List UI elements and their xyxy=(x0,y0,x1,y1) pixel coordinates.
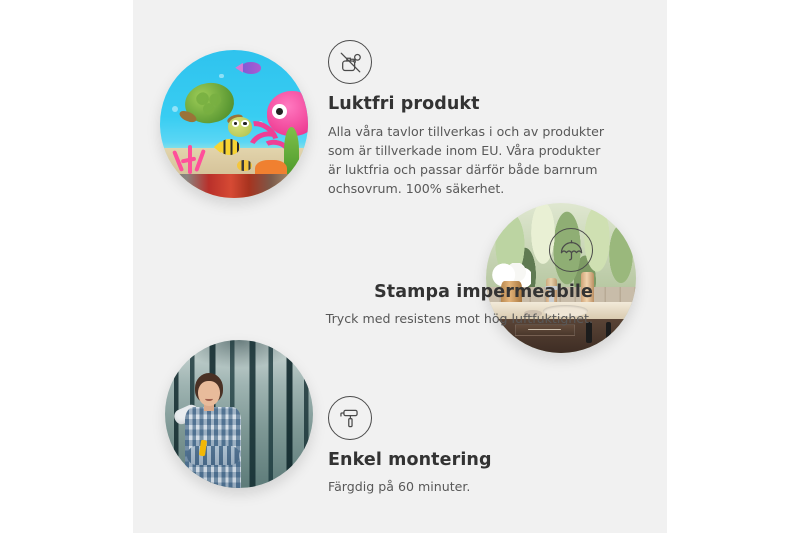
right-white-margin xyxy=(667,0,800,533)
cabinet-handle xyxy=(606,322,612,343)
promo-banner: Luktfri produkt Alla våra tavlor tillver… xyxy=(0,0,800,533)
face xyxy=(198,381,220,406)
purple-fish-icon xyxy=(241,62,260,74)
feature-description: Alla våra tavlor tillverkas i och av pro… xyxy=(328,122,616,199)
sea-turtle-icon xyxy=(181,83,249,139)
ocean-scene xyxy=(160,50,308,198)
feature-description: Färgdig på 60 minuter. xyxy=(328,477,628,496)
coral-branch xyxy=(194,149,206,172)
feature-title: Enkel montering xyxy=(328,450,628,472)
feature-odourless: Luktfri produkt Alla våra tavlor tillver… xyxy=(328,40,628,198)
bubble-icon xyxy=(172,106,178,112)
content-stage: Luktfri produkt Alla våra tavlor tillver… xyxy=(133,0,667,533)
octopus-eye xyxy=(272,104,287,119)
paint-roller-icon xyxy=(328,396,372,440)
yellow-striped-fish-icon xyxy=(219,139,240,155)
feature-easy-mounting: Enkel montering Färgdig på 60 minuter. xyxy=(328,396,628,496)
umbrella-icon xyxy=(549,228,593,272)
folded-arms xyxy=(187,446,240,464)
feature-title: Stampa impermeabile xyxy=(203,282,593,304)
left-white-margin xyxy=(0,0,133,533)
small-fish-icon xyxy=(237,160,252,172)
woman-paint-roller-forest-wallpaper-photo xyxy=(165,340,313,488)
no-odour-spray-bottle-icon xyxy=(328,40,372,84)
feature-waterproof: Stampa impermeabile Tryck med resistens … xyxy=(203,228,593,328)
turtle-eye xyxy=(232,120,240,126)
room-foreground-strip xyxy=(160,174,308,198)
bubble-icon xyxy=(219,74,223,78)
feature-description: Tryck med resistens mot hög luftfuktighe… xyxy=(203,309,593,328)
underwater-kids-mural-photo xyxy=(160,50,308,198)
octopus-icon xyxy=(252,91,308,159)
forest-scene xyxy=(165,340,313,488)
feature-title: Luktfri produkt xyxy=(328,94,628,116)
woman-figure xyxy=(177,373,260,488)
coral-icon xyxy=(169,133,213,174)
